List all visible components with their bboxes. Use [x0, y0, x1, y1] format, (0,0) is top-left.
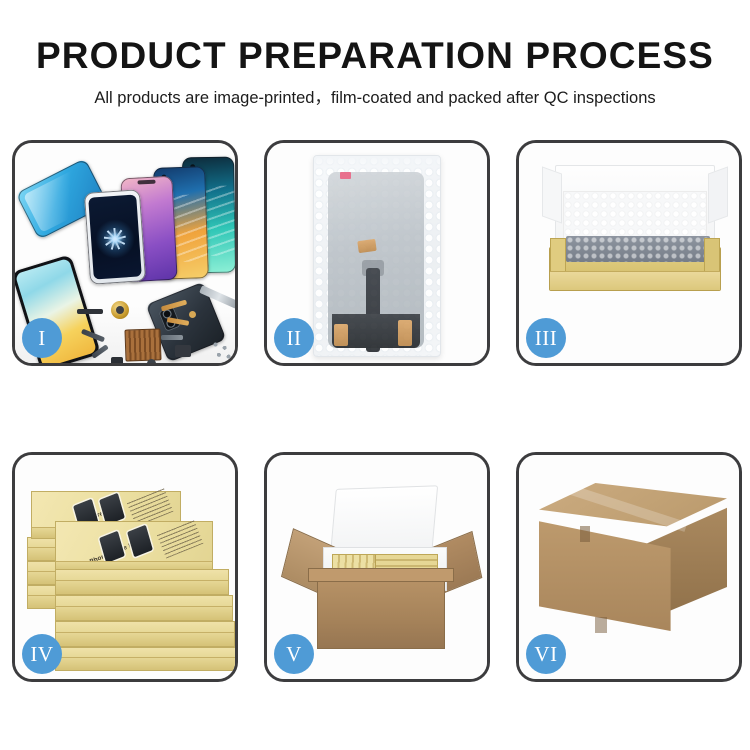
bubble-wrap-bag	[313, 155, 441, 357]
spare-part-chip	[175, 345, 191, 357]
gold-box-top-front: Mobile Phone Spare Parts	[55, 521, 213, 573]
spare-part-connector	[111, 357, 123, 363]
gold-box-front-4	[55, 647, 235, 671]
step-panel-6: VI	[516, 452, 742, 682]
screws-group	[211, 339, 233, 361]
page-header: PRODUCT PREPARATION PROCESS All products…	[0, 0, 750, 110]
shipping-carton-open	[289, 481, 473, 657]
process-steps-grid: I II	[12, 140, 742, 682]
step-badge-1: I	[22, 318, 62, 358]
small-component-1	[147, 359, 156, 363]
gold-box-tray	[549, 247, 721, 291]
step-badge-6: VI	[526, 634, 566, 674]
gold-box-front-2	[55, 595, 233, 621]
speaker-coil-part	[111, 301, 129, 319]
page-subtitle: All products are image-printed，film-coat…	[0, 86, 750, 110]
lcd-screen-assembly	[328, 172, 424, 348]
gold-box-front-3	[55, 621, 235, 647]
step-panel-4: Mobile Phone Spare Parts Mobile Phone Sp…	[12, 452, 238, 682]
gold-box-front-1	[55, 569, 229, 595]
step-panel-3: III	[516, 140, 742, 366]
step-badge-3: III	[526, 318, 566, 358]
carton-tab-upper	[580, 526, 590, 542]
step-badge-5: V	[274, 634, 314, 674]
logic-board-part	[124, 328, 161, 361]
tempered-glass-display	[84, 189, 146, 285]
carton-front-face	[539, 519, 671, 631]
bag-seal-edge	[314, 156, 440, 172]
flex-cable-4	[161, 335, 183, 340]
carton-body	[317, 575, 445, 649]
step-badge-2: II	[274, 318, 314, 358]
step-badge-4: IV	[22, 634, 62, 674]
step-panel-5: V	[264, 452, 490, 682]
sealed-carton	[539, 483, 727, 647]
small-component-3	[189, 311, 196, 318]
step-panel-1: I	[12, 140, 238, 366]
spare-part-strip	[77, 309, 103, 314]
page-title: PRODUCT PREPARATION PROCESS	[0, 34, 750, 78]
step-panel-2: II	[264, 140, 490, 366]
carton-tab-lower	[595, 617, 607, 633]
pink-qc-sticker	[340, 172, 351, 179]
